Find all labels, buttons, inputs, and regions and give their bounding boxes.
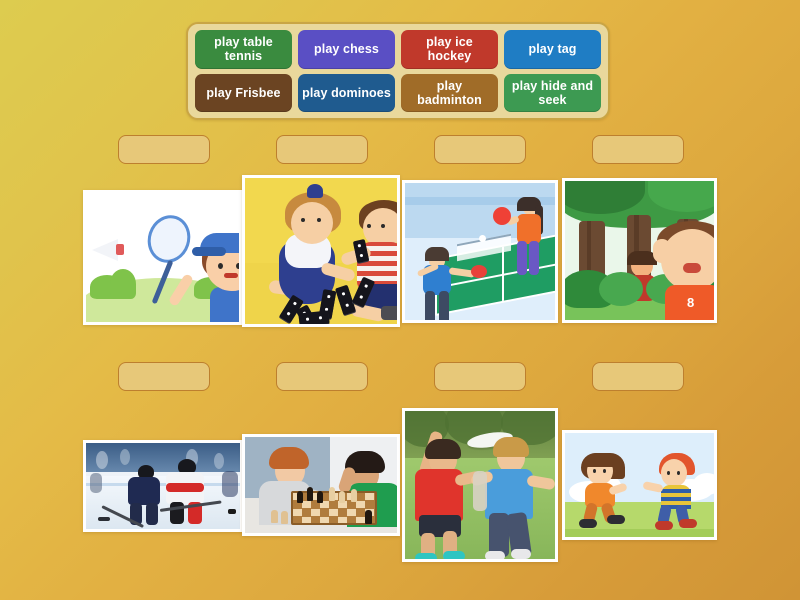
word-tile-play-hide-and-seek[interactable]: play hide and seek xyxy=(504,74,601,113)
picture-card-hide-and-seek[interactable]: 8 xyxy=(562,178,717,323)
ice-hockey-illustration xyxy=(86,443,240,529)
drop-slot-3[interactable] xyxy=(434,135,526,164)
badminton-illustration xyxy=(86,193,239,322)
word-tile-play-ice-hockey[interactable]: play ice hockey xyxy=(401,30,498,69)
word-tile-play-chess[interactable]: play chess xyxy=(298,30,395,69)
drop-slot-7[interactable] xyxy=(434,362,526,391)
word-tile-play-badminton[interactable]: play badminton xyxy=(401,74,498,113)
word-tile-play-table-tennis[interactable]: play table tennis xyxy=(195,30,292,69)
picture-card-chess[interactable] xyxy=(242,434,400,536)
word-tile-play-dominoes[interactable]: play dominoes xyxy=(298,74,395,113)
picture-card-table-tennis[interactable] xyxy=(402,180,558,323)
picture-card-ice-hockey[interactable] xyxy=(83,440,243,532)
word-bank-panel: play table tennis play chess play ice ho… xyxy=(186,22,610,120)
dominoes-illustration xyxy=(245,178,397,324)
activity-stage: play table tennis play chess play ice ho… xyxy=(0,0,800,600)
picture-card-dominoes[interactable] xyxy=(242,175,400,327)
table-tennis-illustration xyxy=(405,183,555,320)
word-tile-play-frisbee[interactable]: play Frisbee xyxy=(195,74,292,113)
drop-slot-4[interactable] xyxy=(592,135,684,164)
picture-card-badminton[interactable] xyxy=(83,190,242,325)
picture-card-tag[interactable] xyxy=(562,430,717,540)
word-bank-row-1: play table tennis play chess play ice ho… xyxy=(195,30,601,69)
picture-card-frisbee[interactable] xyxy=(402,408,558,562)
drop-slot-8[interactable] xyxy=(592,362,684,391)
drop-slot-5[interactable] xyxy=(118,362,210,391)
jersey-number: 8 xyxy=(687,295,694,310)
drop-slot-1[interactable] xyxy=(118,135,210,164)
word-bank-row-2: play Frisbee play dominoes play badminto… xyxy=(195,74,601,113)
drop-slot-6[interactable] xyxy=(276,362,368,391)
tag-illustration xyxy=(565,433,714,537)
hide-and-seek-illustration: 8 xyxy=(565,181,714,320)
word-tile-play-tag[interactable]: play tag xyxy=(504,30,601,69)
chess-illustration xyxy=(245,437,397,533)
frisbee-illustration xyxy=(405,411,555,559)
drop-slot-2[interactable] xyxy=(276,135,368,164)
